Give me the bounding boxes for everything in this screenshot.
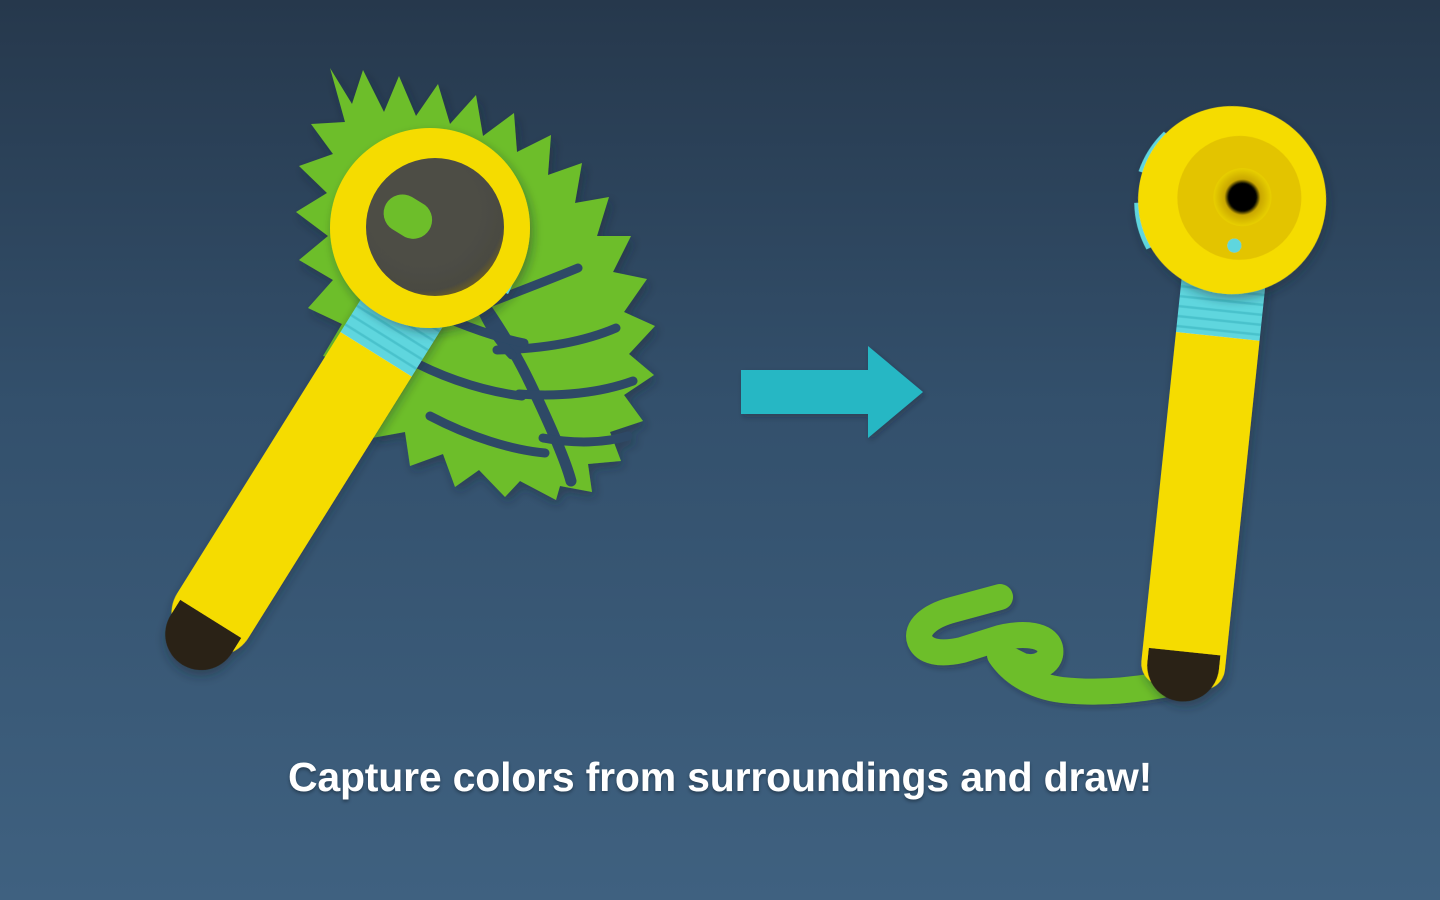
- green-scribble-stroke: [919, 597, 1176, 692]
- scanner-head-lens: [366, 158, 504, 296]
- promo-screen: Capture colors from surroundings and dra…: [0, 0, 1440, 900]
- right-arrow: [741, 346, 923, 438]
- scanner-pen-head[interactable]: [330, 128, 530, 328]
- scanner-pen-barrel: [147, 269, 451, 687]
- drawing-pen-head[interactable]: [1126, 96, 1336, 303]
- drawing-pen-barrel: [1138, 245, 1269, 705]
- page-caption: Capture colors from surroundings and dra…: [0, 752, 1440, 802]
- arrow-icon: [741, 346, 923, 438]
- color-drawing-pen[interactable]: [1083, 96, 1335, 711]
- scribble-path: [919, 597, 1176, 692]
